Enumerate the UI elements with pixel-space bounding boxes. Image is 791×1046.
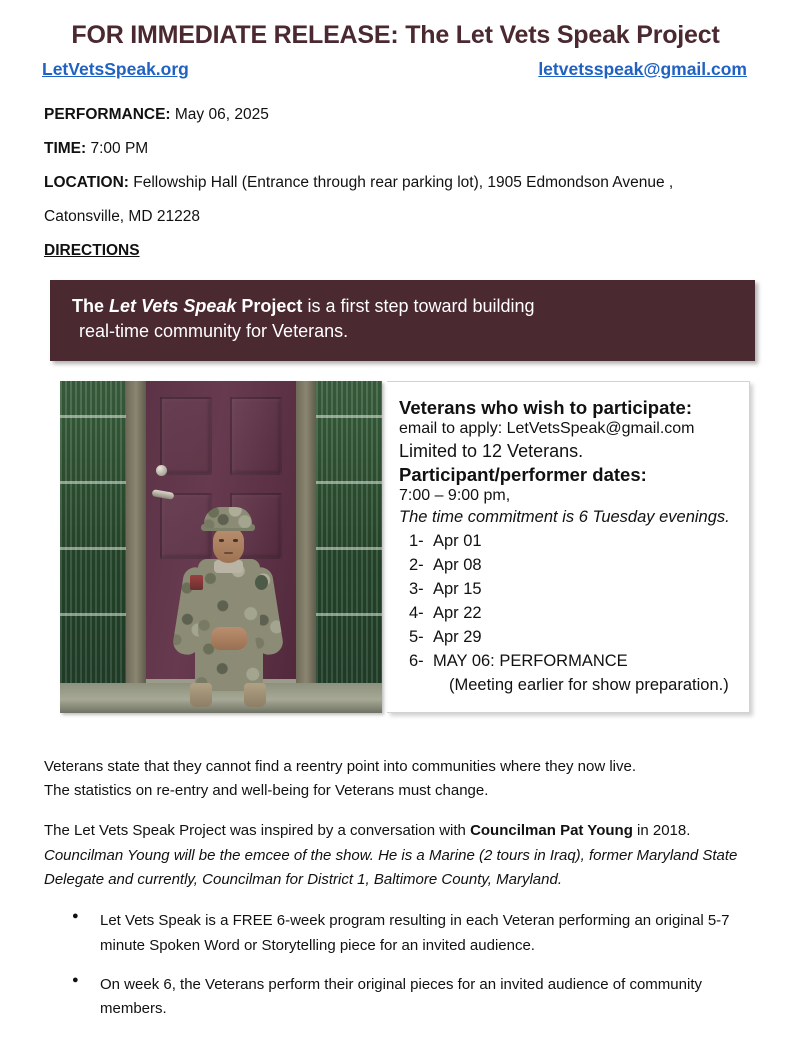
date-label: Apr 22 <box>433 604 482 622</box>
apply-email-link[interactable]: LetVetsSpeak@gmail.com <box>507 420 695 437</box>
sidelight-bar <box>316 481 382 484</box>
media-row: Veterans who wish to participate: email … <box>60 381 791 713</box>
performance-label: PERFORMANCE: <box>44 106 171 123</box>
list-item: 5-Apr 29 <box>399 626 735 650</box>
date-label: MAY 06: PERFORMANCE <box>433 652 628 670</box>
banner-bold-lead: The <box>72 296 109 316</box>
dates-heading: Participant/performer dates: <box>399 463 735 486</box>
time-line: TIME: 7:00 PM <box>44 140 747 157</box>
unit-patch-icon <box>255 575 268 590</box>
paragraph-reentry: Veterans state that they cannot find a r… <box>44 755 747 804</box>
list-item: On week 6, the Veterans perform their or… <box>72 973 747 1022</box>
veteran-figure <box>168 507 288 707</box>
list-item: 2-Apr 08 <box>399 554 735 578</box>
page-title: FOR IMMEDIATE RELEASE: The Let Vets Spea… <box>0 22 791 50</box>
banner-project-name: Let Vets Speak <box>109 296 236 316</box>
dates-note: (Meeting earlier for show preparation.) <box>399 674 735 698</box>
commitment-note: The time commitment is 6 Tuesday evening… <box>399 507 735 528</box>
date-label: Apr 29 <box>433 628 482 646</box>
apply-line: email to apply: LetVetsSpeak@gmail.com <box>399 419 735 439</box>
door-frame-left <box>126 381 146 685</box>
inspiration-prefix: The Let Vets Speak Project was inspired … <box>44 822 470 839</box>
list-item: 1-Apr 01 <box>399 530 735 554</box>
inspiration-suffix: in 2018. <box>633 822 691 839</box>
councilman-bio: Councilman Young will be the emcee of th… <box>44 847 737 888</box>
veteran-hands <box>211 627 247 650</box>
date-label: Apr 08 <box>433 556 482 574</box>
sidelight-bar <box>316 415 382 418</box>
list-item: Let Vets Speak is a FREE 6-week program … <box>72 909 747 958</box>
mouth-icon <box>224 552 233 554</box>
list-item: 6-MAY 06: PERFORMANCE <box>399 650 735 674</box>
date-label: Apr 01 <box>433 532 482 550</box>
time-label: TIME: <box>44 140 86 157</box>
sidelight-bar <box>316 547 382 550</box>
location-label: LOCATION: <box>44 174 129 191</box>
time-value: 7:00 PM <box>86 140 148 157</box>
sidelight-bar <box>316 613 382 616</box>
website-link[interactable]: LetVetsSpeak.org <box>42 59 189 80</box>
date-number: 2- <box>409 554 424 578</box>
body-copy: Veterans state that they cannot find a r… <box>0 755 791 892</box>
email-link[interactable]: letvetsspeak@gmail.com <box>538 59 747 80</box>
performance-value: May 06, 2025 <box>171 106 269 123</box>
photo-sidelight-right <box>316 381 382 683</box>
banner-bold-tail: Project <box>236 296 302 316</box>
header-links: LetVetsSpeak.org letvetsspeak@gmail.com <box>0 50 791 80</box>
door-knob-icon <box>156 465 167 476</box>
door-frame-right <box>296 381 316 685</box>
veteran-cap <box>204 507 252 528</box>
eye-icon <box>233 539 238 542</box>
directions-link[interactable]: DIRECTIONS <box>44 242 140 259</box>
performance-line: PERFORMANCE: May 06, 2025 <box>44 106 747 123</box>
date-number: 5- <box>409 626 424 650</box>
date-number: 6- <box>409 650 424 674</box>
date-number: 1- <box>409 530 424 554</box>
banner-rest: is a first step toward building <box>302 296 534 316</box>
eye-icon <box>219 539 224 542</box>
veteran-boot <box>244 683 266 707</box>
banner-line-1: The Let Vets Speak Project is a first st… <box>72 294 733 320</box>
location-line: LOCATION: Fellowship Hall (Entrance thro… <box>44 174 747 191</box>
photo-sidelight-left <box>60 381 126 683</box>
veteran-face <box>213 527 244 563</box>
door-panel <box>230 397 282 475</box>
sidelight-bar <box>60 547 126 550</box>
sidelight-bar <box>60 415 126 418</box>
apply-prefix: email to apply: <box>399 420 507 437</box>
participation-panel: Veterans who wish to participate: email … <box>387 381 750 713</box>
date-label: Apr 15 <box>433 580 482 598</box>
program-bullets: Let Vets Speak is a FREE 6-week program … <box>0 909 791 1021</box>
session-dates-list: 1-Apr 01 2-Apr 08 3-Apr 15 4-Apr 22 5-Ap… <box>399 530 735 697</box>
veteran-boot <box>190 683 212 707</box>
door-panel <box>160 397 212 475</box>
location-line-2: Catonsville, MD 21228 <box>44 208 747 225</box>
limit-line: Limited to 12 Veterans. <box>399 440 735 463</box>
paragraph-inspiration: The Let Vets Speak Project was inspired … <box>44 819 747 892</box>
sidelight-bar <box>60 481 126 484</box>
banner-line-2: real-time community for Veterans. <box>72 319 733 345</box>
location-value: Fellowship Hall (Entrance through rear p… <box>129 174 673 191</box>
press-release-document: FOR IMMEDIATE RELEASE: The Let Vets Spea… <box>0 22 791 1046</box>
reentry-line-2: The statistics on re-entry and well-bein… <box>44 782 488 799</box>
date-number: 3- <box>409 578 424 602</box>
event-details: PERFORMANCE: May 06, 2025 TIME: 7:00 PM … <box>0 80 791 259</box>
sidelight-bar <box>60 613 126 616</box>
councilman-name: Councilman Pat Young <box>470 822 633 839</box>
reentry-line-1: Veterans state that they cannot find a r… <box>44 758 636 775</box>
tagline-banner: The Let Vets Speak Project is a first st… <box>50 280 755 361</box>
list-item: 3-Apr 15 <box>399 578 735 602</box>
date-number: 4- <box>409 602 424 626</box>
list-item: 4-Apr 22 <box>399 602 735 626</box>
time-range: 7:00 – 9:00 pm, <box>399 486 735 506</box>
participate-heading: Veterans who wish to participate: <box>399 396 735 419</box>
flag-patch-icon <box>190 575 203 590</box>
veteran-photo <box>60 381 382 713</box>
